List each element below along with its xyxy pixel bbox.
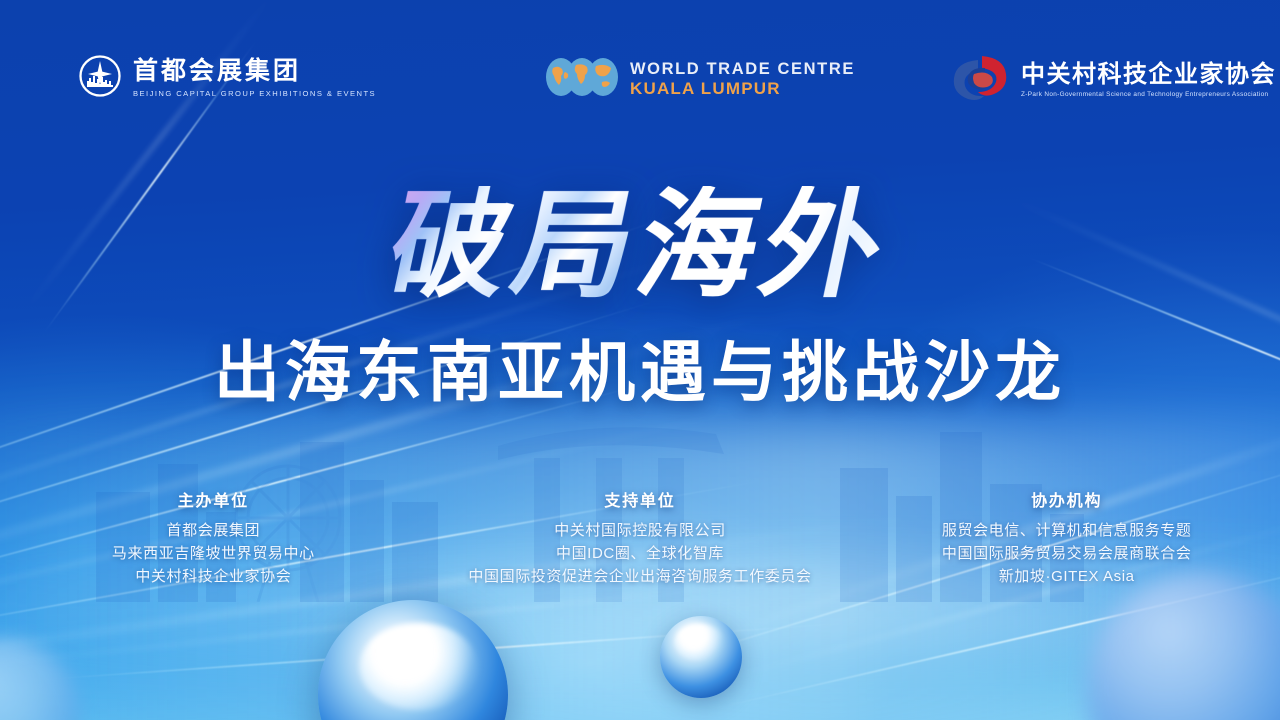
logo-beijing-capital-group: 首都会展集团 BEIJING CAPITAL GROUP EXHIBITIONS…: [78, 54, 376, 103]
credits-line: 中国国际投资促进会企业出海咨询服务工作委员会: [427, 566, 854, 589]
credits-line: 新加坡·GITEX Asia: [853, 566, 1280, 589]
decorative-sphere-blurred-right: [1086, 572, 1280, 720]
credits-section: 主办单位 首都会展集团 马来西亚吉隆坡世界贸易中心 中关村科技企业家协会 支持单…: [0, 487, 1280, 588]
credits-column-organizer: 主办单位 首都会展集团 马来西亚吉隆坡世界贸易中心 中关村科技企业家协会: [0, 487, 427, 588]
logo-wtc-line2: KUALA LUMPUR: [630, 79, 855, 99]
logo-z-park-en: Z-Park Non-Governmental Science and Tech…: [1021, 92, 1276, 98]
logo-z-park-cn: 中关村科技企业家协会: [1021, 63, 1276, 87]
decorative-sphere-large-left: [318, 600, 508, 720]
credits-column-supporter: 支持单位 中关村国际控股有限公司 中国IDC圈、全球化智库 中国国际投资促进会企…: [427, 487, 854, 588]
credits-line: 中关村科技企业家协会: [0, 566, 427, 589]
credits-line: 马来西亚吉隆坡世界贸易中心: [0, 543, 427, 566]
wtc-triple-globe-icon: [545, 56, 619, 103]
credits-heading-supporter: 支持单位: [427, 487, 854, 511]
zpark-swirl-icon: [952, 54, 1010, 107]
logo-beijing-capital-group-cn: 首都会展集团: [133, 59, 376, 84]
event-subtitle: 出海东南亚机遇与挑战沙龙: [0, 340, 1280, 406]
credits-line: 中关村国际控股有限公司: [427, 520, 854, 543]
credits-column-coorganizer: 协办机构 服贸会电信、计算机和信息服务专题 中国国际服务贸易交易会展商联合会 新…: [853, 487, 1280, 588]
credits-line: 中国国际服务贸易交易会展商联合会: [853, 543, 1280, 566]
circle-star-skyline-icon: [78, 54, 122, 103]
decorative-sphere-blurred-far-left: [0, 638, 80, 720]
event-poster: 首都会展集团 BEIJING CAPITAL GROUP EXHIBITIONS…: [0, 0, 1280, 720]
credits-line: 服贸会电信、计算机和信息服务专题: [853, 520, 1280, 543]
sponsor-logo-bar: 首都会展集团 BEIJING CAPITAL GROUP EXHIBITIONS…: [0, 46, 1280, 112]
logo-beijing-capital-group-en: BEIJING CAPITAL GROUP EXHIBITIONS & EVEN…: [133, 90, 376, 98]
main-title-wrap: 破局海外: [0, 186, 1280, 304]
logo-world-trade-centre-kuala-lumpur: WORLD TRADE CENTRE KUALA LUMPUR: [545, 56, 855, 103]
credits-heading-organizer: 主办单位: [0, 487, 427, 511]
main-title-white-part: 海外: [627, 186, 900, 304]
credits-line: 首都会展集团: [0, 520, 427, 543]
credits-line: 中国IDC圈、全球化智库: [427, 543, 854, 566]
main-title-gradient-part: 破局: [379, 186, 652, 304]
logo-wtc-line1: WORLD TRADE CENTRE: [630, 60, 855, 79]
credits-heading-coorganizer: 协办机构: [853, 487, 1280, 511]
decorative-sphere-small-right: [660, 616, 742, 698]
logo-z-park-association: 中关村科技企业家协会 Z-Park Non-Governmental Scien…: [952, 54, 1276, 107]
